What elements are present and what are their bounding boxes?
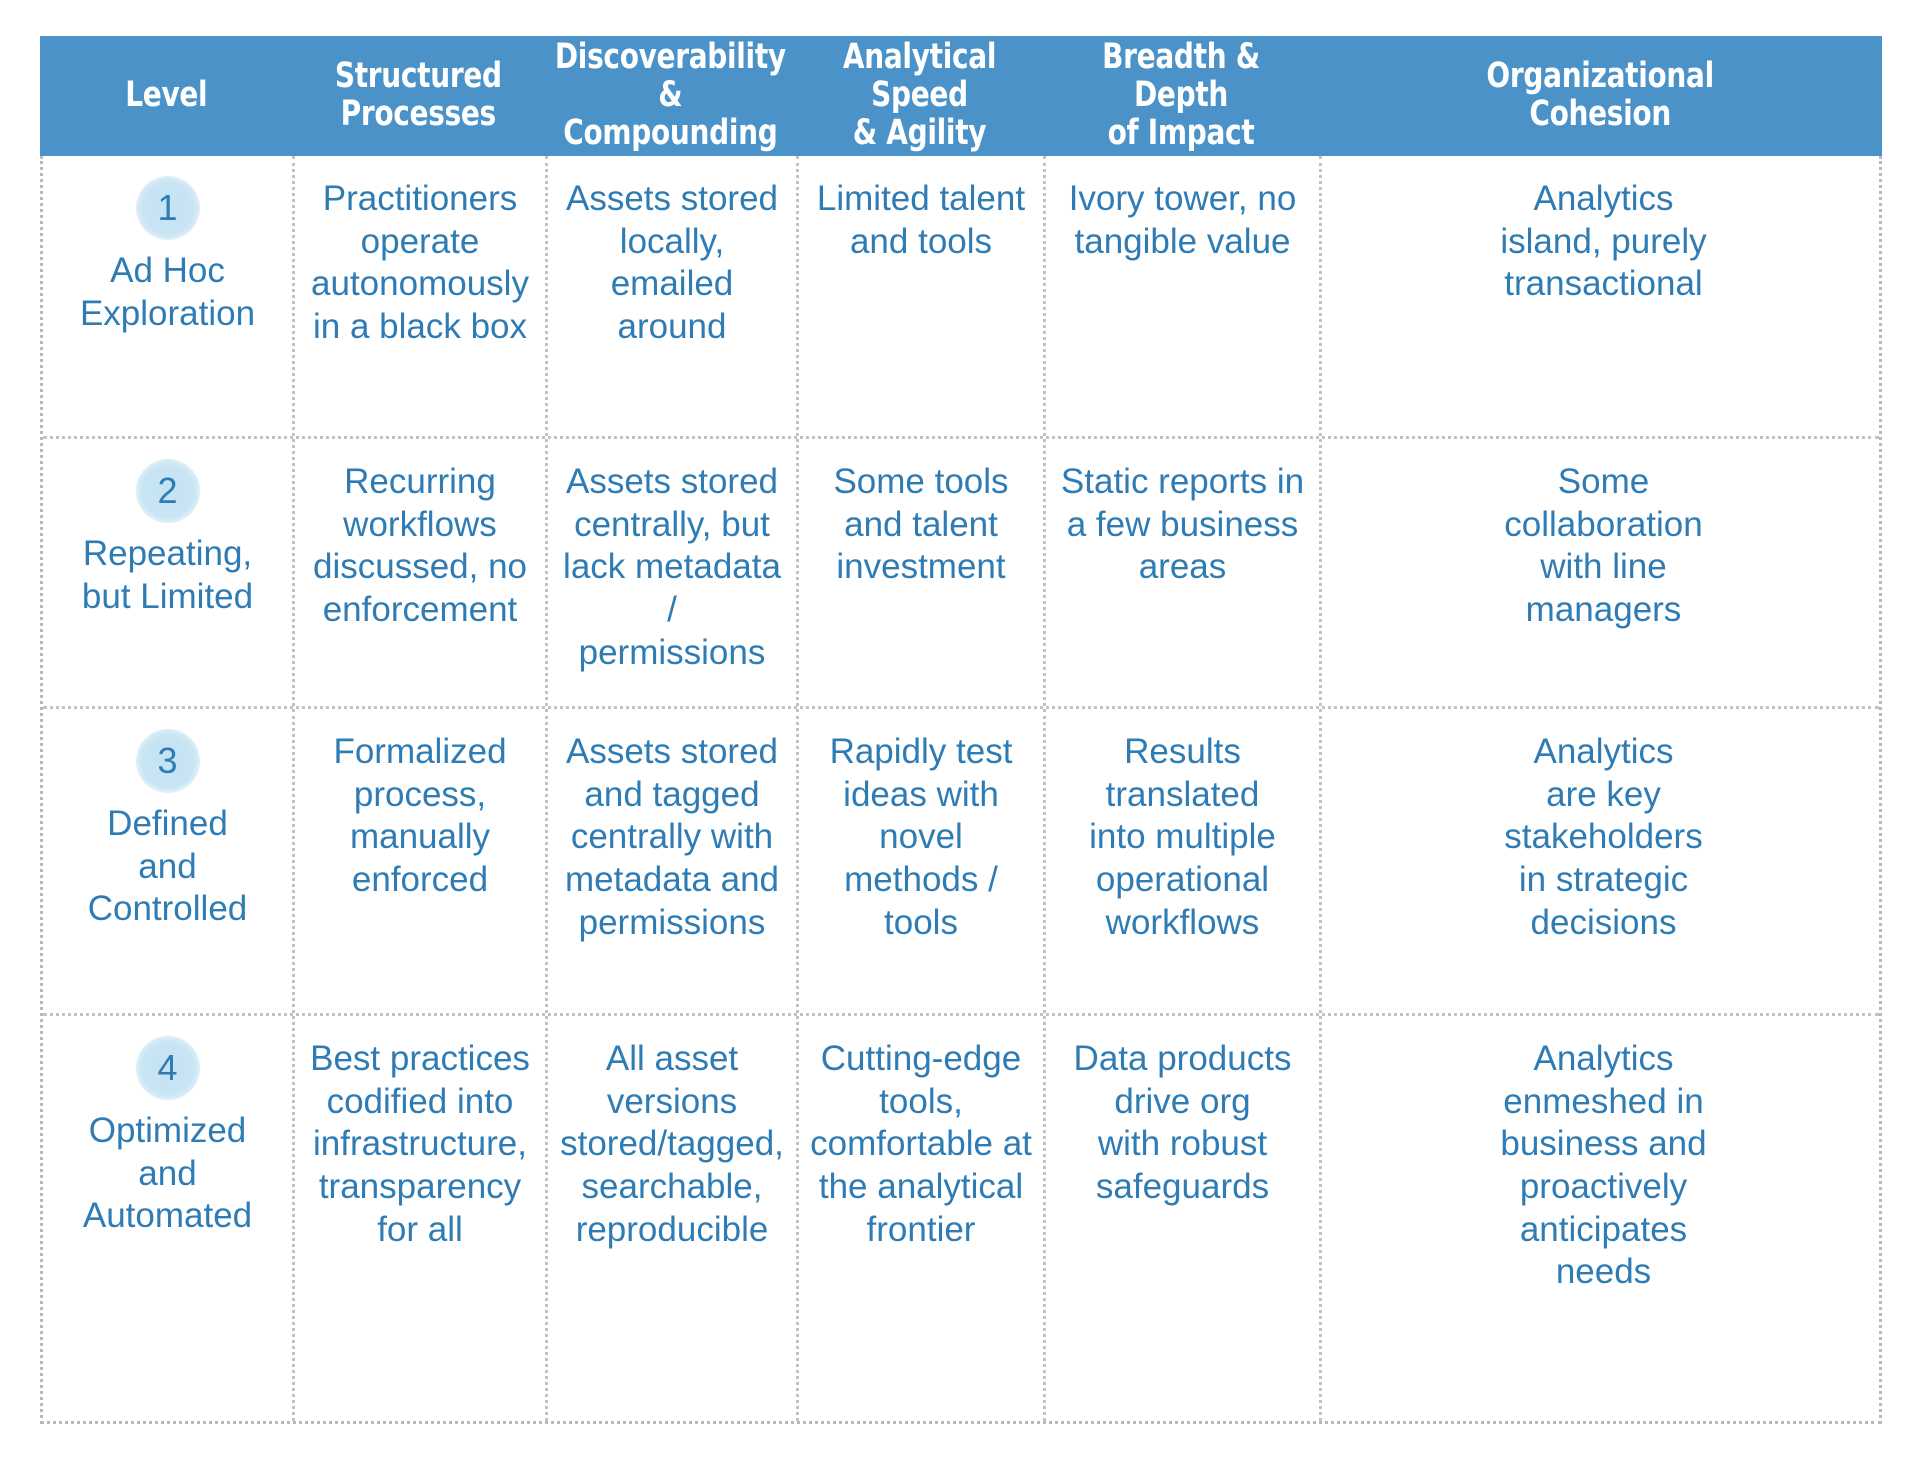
table-row: 2 Repeating, but Limited Recurring workf… (43, 439, 1879, 709)
table-body: 1 Ad Hoc Exploration Practitioners opera… (40, 156, 1882, 1424)
table-header-row: Level Structured Processes Discoverabili… (40, 36, 1882, 156)
cell-breadth-depth-impact: Ivory tower, no tangible value (1046, 156, 1322, 436)
table-row: 1 Ad Hoc Exploration Practitioners opera… (43, 156, 1879, 439)
cell-structured-processes: Best practices codified into infrastruct… (295, 1016, 548, 1421)
cell-structured-processes: Recurring workflows discussed, no enforc… (295, 439, 548, 706)
column-header-discoverability-compounding: Discoverability & Compounding (552, 39, 789, 152)
level-name: Defined and Controlled (88, 803, 248, 931)
cell-organizational-cohesion: Analytics are key stakeholders in strate… (1322, 709, 1885, 1013)
cell-breadth-depth-impact: Data products drive org with robust safe… (1046, 1016, 1322, 1421)
column-header-level: Level (122, 77, 210, 115)
column-header-organizational-cohesion: Organizational Cohesion (1484, 58, 1718, 134)
column-header-analytical-speed-agility: Analytical Speed & Agility (821, 39, 1019, 152)
cell-analytical-speed-agility: Cutting-edge tools, comfortable at the a… (799, 1016, 1046, 1421)
cell-analytical-speed-agility: Limited talent and tools (799, 156, 1046, 436)
cell-analytical-speed-agility: Some tools and talent investment (799, 439, 1046, 706)
level-name: Repeating, but Limited (82, 533, 253, 618)
cell-discoverability-compounding: Assets stored centrally, but lack metada… (548, 439, 799, 706)
cell-structured-processes: Practitioners operate autonomously in a … (295, 156, 548, 436)
cell-breadth-depth-impact: Results translated into multiple operati… (1046, 709, 1322, 1013)
cell-breadth-depth-impact: Static reports in a few business areas (1046, 439, 1322, 706)
table-row: 4 Optimized and Automated Best practices… (43, 1016, 1879, 1421)
level-name: Optimized and Automated (83, 1110, 252, 1238)
level-cell: 4 Optimized and Automated (43, 1016, 295, 1421)
level-name: Ad Hoc Exploration (80, 250, 255, 335)
cell-organizational-cohesion: Some collaboration with line managers (1322, 439, 1885, 706)
cell-organizational-cohesion: Analytics island, purely transactional (1322, 156, 1885, 436)
cell-organizational-cohesion: Analytics enmeshed in business and proac… (1322, 1016, 1885, 1421)
maturity-model-table: Level Structured Processes Discoverabili… (40, 36, 1882, 1424)
level-badge: 3 (136, 729, 200, 793)
level-cell: 1 Ad Hoc Exploration (43, 156, 295, 436)
level-badge: 2 (136, 459, 200, 523)
cell-structured-processes: Formalized process, manually enforced (295, 709, 548, 1013)
cell-discoverability-compounding: All asset versions stored/tagged, search… (548, 1016, 799, 1421)
table-row: 3 Defined and Controlled Formalized proc… (43, 709, 1879, 1016)
level-cell: 3 Defined and Controlled (43, 709, 295, 1013)
cell-discoverability-compounding: Assets stored and tagged centrally with … (548, 709, 799, 1013)
level-badge: 4 (136, 1036, 200, 1100)
level-cell: 2 Repeating, but Limited (43, 439, 295, 706)
cell-analytical-speed-agility: Rapidly test ideas with novel methods / … (799, 709, 1046, 1013)
column-header-breadth-depth-impact: Breadth & Depth of Impact (1071, 39, 1292, 152)
cell-discoverability-compounding: Assets stored locally, emailed around (548, 156, 799, 436)
column-header-structured-processes: Structured Processes (332, 58, 505, 134)
level-badge: 1 (136, 176, 200, 240)
